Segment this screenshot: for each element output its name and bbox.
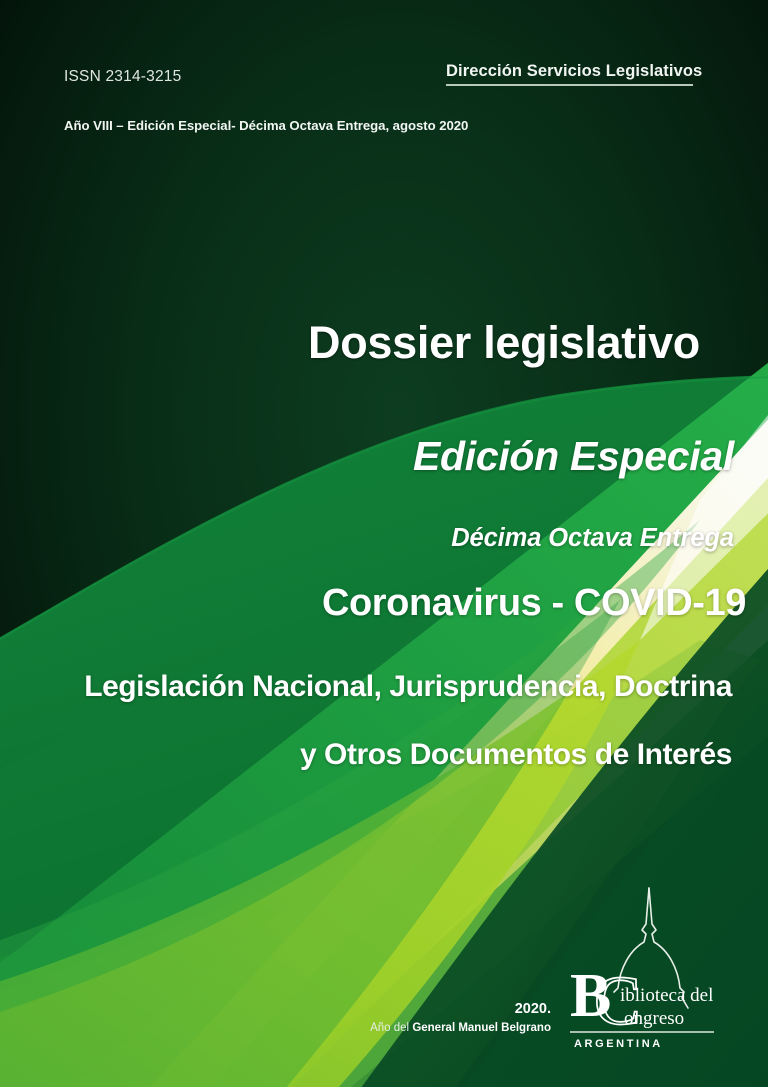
- biblioteca-del-congreso-logo: B C iblioteca del ongreso ARGENTINA: [564, 884, 724, 1054]
- footer-year: 2020.: [515, 1001, 551, 1017]
- department-title: Dirección Servicios Legislativos: [446, 62, 704, 81]
- logo-line-2: ongreso: [624, 1008, 684, 1029]
- logo-country: ARGENTINA: [574, 1038, 663, 1050]
- subtitle-line-2: y Otros Documentos de Interés: [300, 738, 732, 772]
- topic-title: Coronavirus - COVID-19: [322, 582, 746, 625]
- page-title: Dossier legislativo: [308, 317, 700, 369]
- issn-label: ISSN 2314-3215: [64, 68, 181, 86]
- document-cover: ISSN 2314-3215 Dirección Servicios Legis…: [0, 0, 768, 1087]
- department-header: Dirección Servicios Legislativos: [446, 62, 704, 86]
- edition-title: Edición Especial: [413, 433, 734, 480]
- logo-line-1: iblioteca del: [620, 985, 713, 1006]
- installment-title: Décima Octava Entrega: [451, 524, 734, 553]
- edition-line: Año VIII – Edición Especial- Décima Octa…: [64, 118, 468, 133]
- commemoration-name: General Manuel Belgrano: [412, 1022, 551, 1034]
- department-underline: [446, 84, 693, 86]
- subtitle-line-1: Legislación Nacional, Jurisprudencia, Do…: [84, 670, 732, 704]
- footer-commemoration: Año del General Manuel Belgrano: [370, 1022, 551, 1034]
- commemoration-prefix: Año del: [370, 1022, 412, 1034]
